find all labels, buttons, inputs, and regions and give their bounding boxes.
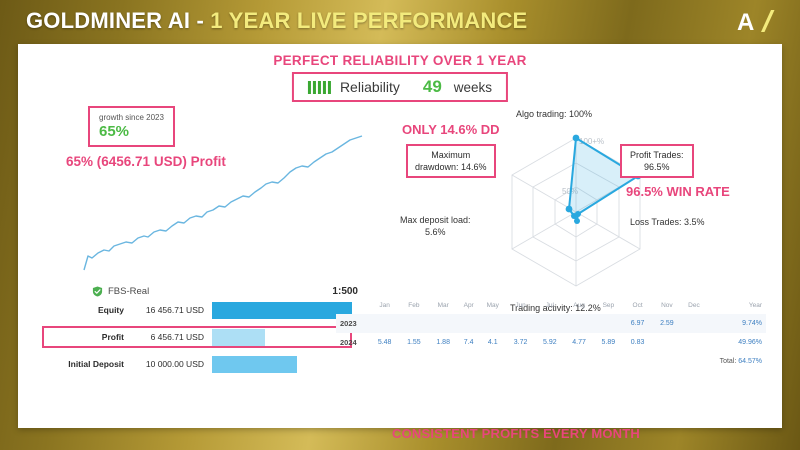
broker-info: FBS-Real bbox=[92, 286, 149, 297]
profit-trades-callout-line1: Profit Trades: bbox=[630, 149, 684, 161]
broker-name: FBS-Real bbox=[108, 286, 149, 297]
balance-value-profit: 6 456.71 USD bbox=[124, 332, 212, 342]
monthly-cell bbox=[399, 314, 428, 333]
balance-bar-chart: Equity 16 456.71 USD Profit 6 456.71 USD… bbox=[42, 299, 352, 380]
reliability-unit: weeks bbox=[454, 80, 492, 95]
reliability-label: Reliability bbox=[340, 79, 400, 95]
monthly-cell: 1.88 bbox=[429, 333, 458, 352]
profit-trades-callout-line2: 96.5% bbox=[630, 161, 684, 173]
balance-label-profit: Profit bbox=[44, 332, 124, 342]
page-title: GOLDMINER AI - 1 YEAR LIVE PERFORMANCE bbox=[26, 8, 527, 34]
radar-label-max-deposit-load-line2: 5.6% bbox=[400, 226, 471, 238]
monthly-table-body: 20236.972.599.74%20245.481.551.887.44.13… bbox=[336, 314, 766, 352]
monthly-cell: 4.77 bbox=[564, 333, 593, 352]
monthly-cell bbox=[535, 314, 564, 333]
balance-label-equity: Equity bbox=[42, 305, 124, 315]
monthly-col-nov: Nov bbox=[652, 299, 681, 314]
monthly-year-total: 9.74% bbox=[706, 314, 766, 333]
balance-row-initial-deposit: Initial Deposit 10 000.00 USD bbox=[42, 353, 352, 375]
balance-value-initial-deposit: 10 000.00 USD bbox=[124, 359, 212, 369]
equity-footer: FBS-Real 1:500 bbox=[92, 286, 358, 297]
monthly-cell: 6.97 bbox=[623, 314, 652, 333]
drawdown-callout-line1: Maximum bbox=[415, 149, 487, 161]
reliability-value: 49 bbox=[423, 77, 442, 97]
monthly-returns-table: JanFebMarAprMayJunJulAugSepOctNovDecYear… bbox=[336, 299, 766, 365]
radar-label-max-deposit-load-line1: Max deposit load: bbox=[400, 214, 471, 226]
monthly-cell bbox=[564, 314, 593, 333]
growth-caption: growth since 2023 bbox=[99, 112, 164, 123]
monthly-cell: 5.48 bbox=[370, 333, 399, 352]
monthly-cell bbox=[682, 333, 707, 352]
radar-label-loss-trades: Loss Trades: 3.5% bbox=[630, 216, 705, 228]
win-rate-headline: 96.5% WIN RATE bbox=[626, 184, 730, 199]
monthly-row-2024: 20245.481.551.887.44.13.725.924.775.890.… bbox=[336, 333, 766, 352]
brand-logo: A bbox=[734, 6, 776, 36]
drawdown-callout: Maximum drawdown: 14.6% bbox=[406, 144, 496, 178]
page-title-secondary: 1 YEAR LIVE PERFORMANCE bbox=[210, 8, 527, 33]
monthly-total-label: Total: bbox=[720, 358, 737, 365]
monthly-cell bbox=[458, 314, 480, 333]
page-title-primary: GOLDMINER AI - bbox=[26, 8, 210, 33]
balance-row-equity: Equity 16 456.71 USD bbox=[42, 299, 352, 321]
monthly-cell: 4.1 bbox=[480, 333, 506, 352]
page-header: GOLDMINER AI - 1 YEAR LIVE PERFORMANCE A bbox=[0, 0, 800, 42]
monthly-cell bbox=[682, 314, 707, 333]
monthly-cell: 5.89 bbox=[594, 333, 623, 352]
balance-row-profit: Profit 6 456.71 USD bbox=[42, 326, 352, 348]
monthly-col-feb: Feb bbox=[399, 299, 428, 314]
balance-track-equity bbox=[212, 302, 352, 319]
monthly-row-label: 2023 bbox=[336, 314, 370, 333]
reliability-headline: PERFECT RELIABILITY OVER 1 YEAR bbox=[18, 53, 782, 68]
radar-label-max-deposit-load: Max deposit load: 5.6% bbox=[400, 214, 471, 238]
consistent-profits-headline: CONSISTENT PROFITS EVERY MONTH bbox=[336, 426, 696, 441]
monthly-col-jan: Jan bbox=[370, 299, 399, 314]
monthly-cell bbox=[652, 333, 681, 352]
monthly-col-aug: Aug bbox=[564, 299, 593, 314]
monthly-cell: 0.83 bbox=[623, 333, 652, 352]
balance-bar-profit bbox=[212, 329, 265, 346]
monthly-col-jun: Jun bbox=[506, 299, 535, 314]
svg-text:A: A bbox=[737, 9, 754, 35]
monthly-col-dec: Dec bbox=[682, 299, 707, 314]
monthly-cell bbox=[506, 314, 535, 333]
monthly-cell: 5.92 bbox=[535, 333, 564, 352]
reliability-badge: Reliability 49 weeks bbox=[292, 72, 508, 102]
balance-bar-equity bbox=[212, 302, 352, 319]
balance-track-profit bbox=[212, 329, 348, 346]
monthly-col-jul: Jul bbox=[535, 299, 564, 314]
balance-value-equity: 16 456.71 USD bbox=[124, 305, 212, 315]
monthly-cell bbox=[429, 314, 458, 333]
monthly-col-apr: Apr bbox=[458, 299, 480, 314]
monthly-cell: 2.59 bbox=[652, 314, 681, 333]
monthly-row-label: 2024 bbox=[336, 333, 370, 352]
profit-headline: 65% (6456.71 USD) Profit bbox=[66, 154, 226, 169]
monthly-cell bbox=[370, 314, 399, 333]
monthly-year-total: 49.96% bbox=[706, 333, 766, 352]
monthly-cell: 3.72 bbox=[506, 333, 535, 352]
reliability-bars-icon bbox=[308, 81, 331, 94]
monthly-cell bbox=[480, 314, 506, 333]
growth-callout: growth since 2023 65% bbox=[88, 106, 175, 147]
monthly-row-2023: 20236.972.599.74% bbox=[336, 314, 766, 333]
monthly-col-mar: Mar bbox=[429, 299, 458, 314]
content-card: PERFECT RELIABILITY OVER 1 YEAR Reliabil… bbox=[18, 44, 782, 428]
balance-bar-initial-deposit bbox=[212, 356, 297, 373]
monthly-table-header-row: JanFebMarAprMayJunJulAugSepOctNovDecYear bbox=[336, 299, 766, 314]
monthly-col-year-label bbox=[336, 299, 370, 314]
monthly-col-oct: Oct bbox=[623, 299, 652, 314]
balance-track-initial-deposit bbox=[212, 356, 352, 373]
profit-trades-callout: Profit Trades: 96.5% bbox=[620, 144, 694, 178]
leverage-value: 1:500 bbox=[332, 286, 358, 297]
monthly-total-value: 64.57% bbox=[738, 358, 762, 365]
verified-shield-icon bbox=[92, 286, 103, 297]
balance-label-initial-deposit: Initial Deposit bbox=[42, 359, 124, 369]
monthly-col-may: May bbox=[480, 299, 506, 314]
growth-value: 65% bbox=[99, 123, 164, 140]
monthly-col-year: Year bbox=[706, 299, 766, 314]
drawdown-callout-line2: drawdown: 14.6% bbox=[415, 161, 487, 173]
monthly-col-sep: Sep bbox=[594, 299, 623, 314]
monthly-cell: 7.4 bbox=[458, 333, 480, 352]
monthly-cell bbox=[594, 314, 623, 333]
radar-label-algo-trading: Algo trading: 100% bbox=[516, 108, 592, 120]
drawdown-headline: ONLY 14.6% DD bbox=[402, 122, 500, 137]
monthly-table: JanFebMarAprMayJunJulAugSepOctNovDecYear… bbox=[336, 299, 766, 352]
logo-icon: A bbox=[735, 7, 775, 35]
monthly-total: Total: 64.57% bbox=[336, 352, 766, 365]
monthly-cell: 1.55 bbox=[399, 333, 428, 352]
equity-curve-panel: growth since 2023 65% 65% (6456.71 USD) … bbox=[66, 106, 366, 306]
